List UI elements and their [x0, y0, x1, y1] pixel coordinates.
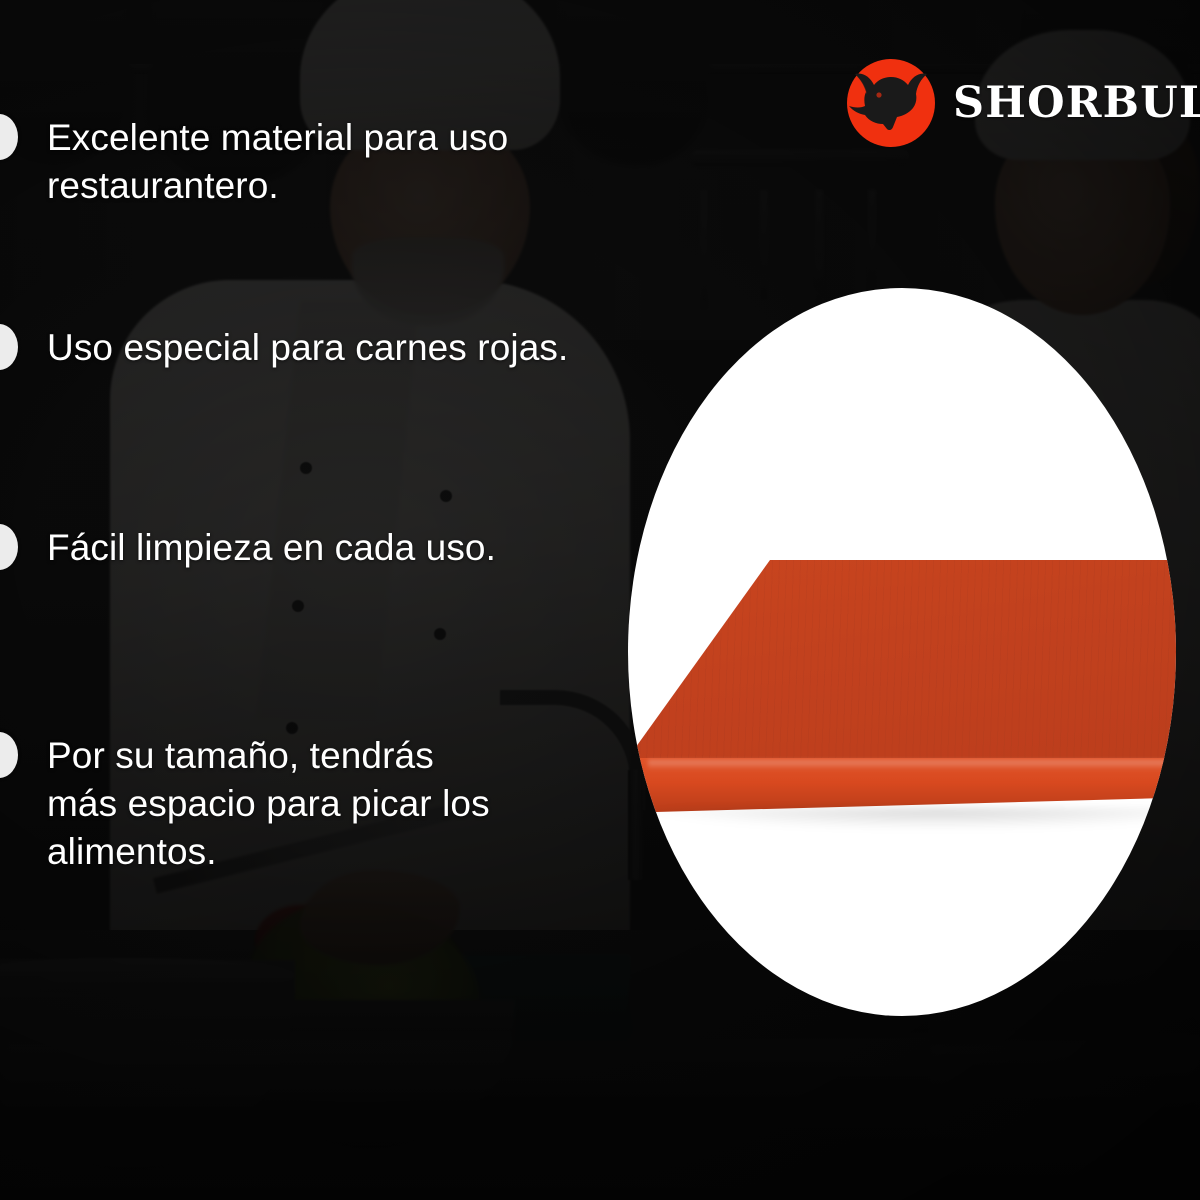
- promo-banner: SHORBULL Excelente material para uso res…: [0, 0, 1200, 1200]
- list-item: Excelente material para uso restauranter…: [0, 114, 508, 210]
- oval-bullet-icon: [0, 524, 18, 570]
- board-texture: [628, 560, 1176, 772]
- list-item-label: Uso especial para carnes rojas.: [47, 324, 568, 372]
- board-highlight: [648, 760, 1176, 770]
- list-item: Por su tamaño, tendrás más espacio para …: [0, 732, 490, 876]
- oval-bullet-icon: [0, 114, 18, 160]
- board-shadow: [638, 808, 1176, 830]
- product-image-oval: [628, 288, 1176, 1016]
- list-item-label: Por su tamaño, tendrás más espacio para …: [47, 732, 490, 876]
- cutting-board-top-face: [628, 560, 1176, 772]
- list-item: Fácil limpieza en cada uso.: [0, 524, 496, 572]
- oval-bullet-icon: [0, 732, 18, 778]
- list-item: Uso especial para carnes rojas.: [0, 324, 568, 372]
- brand-logo: SHORBULL: [843, 58, 1200, 148]
- list-item-label: Excelente material para uso restauranter…: [47, 114, 508, 210]
- oval-bullet-icon: [0, 324, 18, 370]
- bull-head-icon: [843, 58, 939, 148]
- cutting-board-image: [628, 288, 1176, 1016]
- list-item-label: Fácil limpieza en cada uso.: [47, 524, 496, 572]
- brand-name: SHORBULL: [953, 82, 1200, 125]
